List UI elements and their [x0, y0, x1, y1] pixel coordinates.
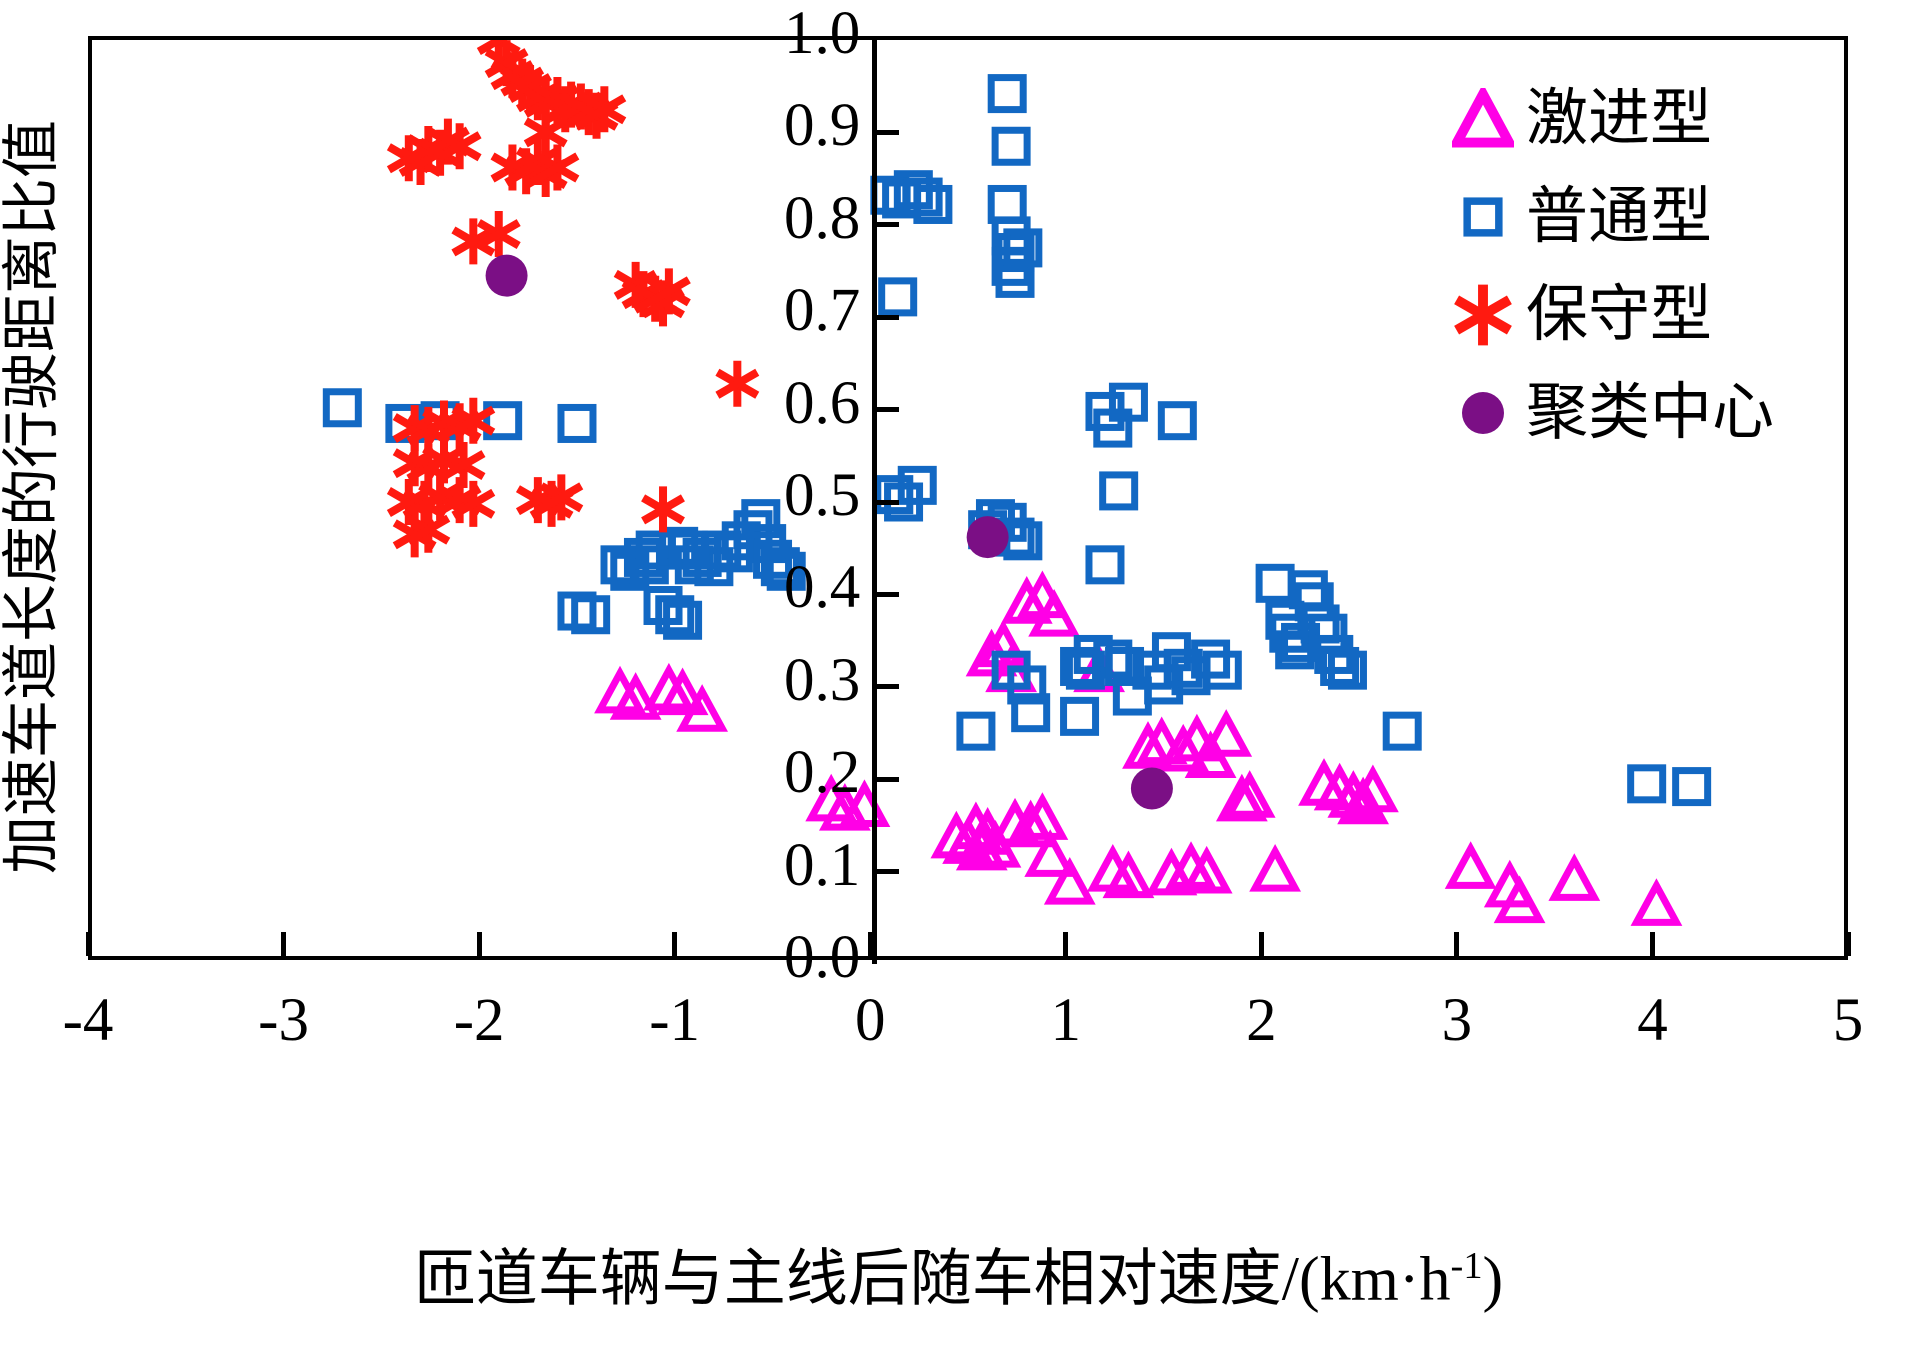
y-axis-title: 加速车道长度的行驶距离比值: [1, 17, 63, 977]
chart-root: 0.00.10.20.30.40.50.60.70.80.91.0-4-3-2-…: [0, 0, 1917, 1345]
y-tick: [877, 777, 899, 782]
x-tick: [868, 932, 873, 956]
y-tick: [877, 592, 899, 597]
legend-label: 聚类中心: [1526, 382, 1774, 444]
x-tick-label: 1: [996, 990, 1136, 1051]
x-axis-title: 匝道车辆与主线后随车相对速度/(km·h-1): [0, 1228, 1917, 1318]
y-tick-label: 1.0: [710, 3, 860, 64]
x-tick: [672, 932, 677, 956]
x-tick-label: 0: [800, 990, 940, 1051]
y-tick: [877, 869, 899, 874]
y-tick: [877, 407, 899, 412]
y-tick-label: 0.7: [710, 280, 860, 341]
y-tick-label: 0.3: [710, 650, 860, 711]
y-tick-label: 0.0: [710, 927, 860, 988]
x-tick-label: -2: [409, 990, 549, 1051]
triangle-icon: [1440, 76, 1526, 162]
x-tick: [281, 932, 286, 956]
y-tick-label: 0.2: [710, 742, 860, 803]
y-tick-label: 0.6: [710, 373, 860, 434]
y-tick-label: 0.9: [710, 95, 860, 156]
x-tick: [1063, 932, 1068, 956]
y-tick-label: 0.5: [710, 465, 860, 526]
x-tick-label: -4: [18, 990, 158, 1051]
legend-label: 激进型: [1526, 88, 1712, 150]
series-3: [389, 40, 757, 557]
legend-item-2[interactable]: 普通型: [1440, 168, 1830, 266]
legend-item-1[interactable]: 激进型: [1440, 70, 1830, 168]
x-tick: [1846, 932, 1851, 956]
y-tick-label: 0.4: [710, 557, 860, 618]
square-icon: [1440, 174, 1526, 260]
legend-label: 保守型: [1526, 284, 1712, 346]
x-tick: [86, 932, 91, 956]
legend-item-3[interactable]: 保守型: [1440, 266, 1830, 364]
y-tick-label: 0.8: [710, 188, 860, 249]
y-tick: [877, 500, 899, 505]
x-tick-label: 3: [1387, 990, 1527, 1051]
x-tick: [1650, 932, 1655, 956]
x-tick-label: 5: [1778, 990, 1917, 1051]
y-tick-label: 0.1: [710, 835, 860, 896]
x-tick-label: 4: [1582, 990, 1722, 1051]
x-tick: [1259, 932, 1264, 956]
chart-legend: 激进型普通型保守型聚类中心: [1440, 70, 1830, 462]
x-tick: [477, 932, 482, 956]
circle-icon: [1440, 370, 1526, 456]
y-tick: [877, 684, 899, 689]
x-tick: [1454, 932, 1459, 956]
legend-item-4[interactable]: 聚类中心: [1440, 364, 1830, 462]
legend-label: 普通型: [1526, 186, 1712, 248]
x-tick-label: -3: [214, 990, 354, 1051]
x-tick-label: 2: [1191, 990, 1331, 1051]
y-tick: [877, 315, 899, 320]
x-tick-label: -1: [605, 990, 745, 1051]
y-tick: [877, 222, 899, 227]
asterisk-icon: [1440, 272, 1526, 358]
y-tick: [877, 130, 899, 135]
